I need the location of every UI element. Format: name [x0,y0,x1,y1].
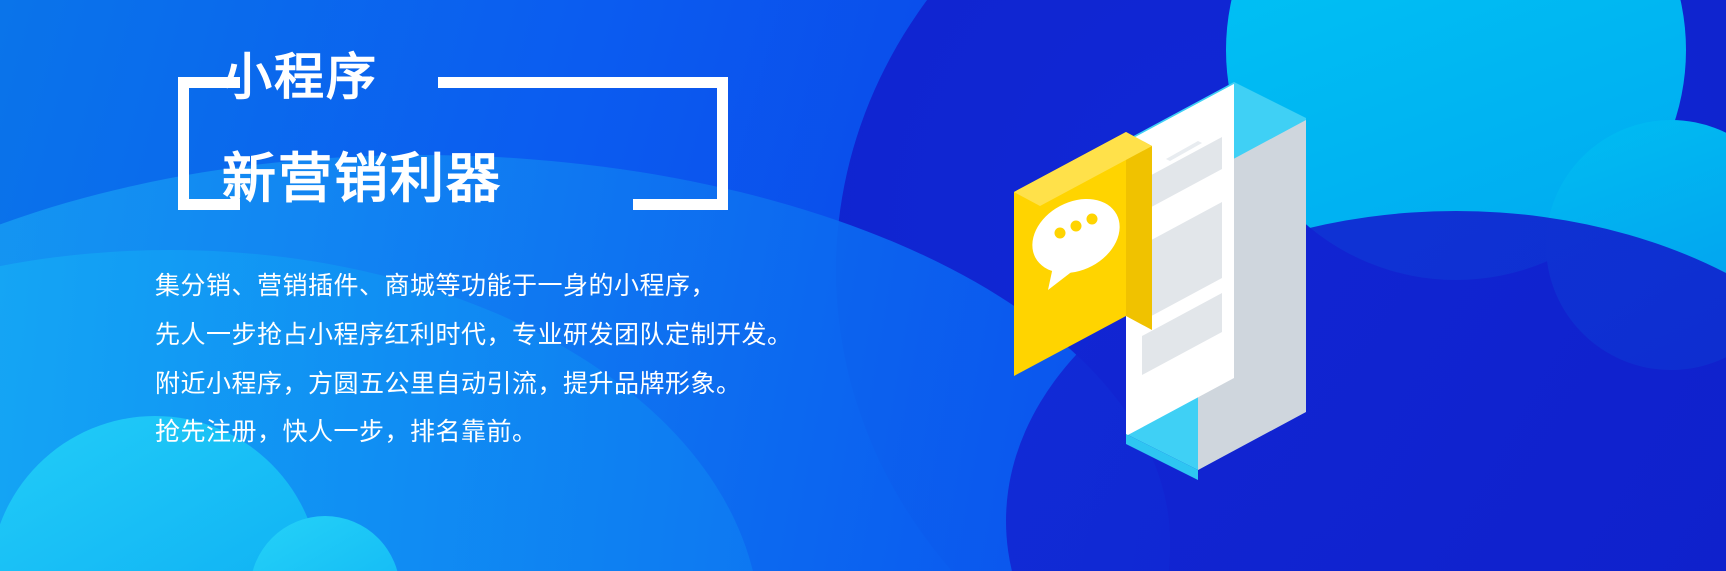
bracket-top-bar [438,77,728,88]
hero-illustration [976,40,1396,540]
banner-content: 小程序 新营销利器 集分销、营销插件、商城等功能于一身的小程序， 先人一步抢占小… [0,0,1000,571]
promo-banner: 小程序 新营销利器 集分销、营销插件、商城等功能于一身的小程序， 先人一步抢占小… [0,0,1726,571]
headline-secondary: 新营销利器 [222,152,502,206]
body-line-1: 集分销、营销插件、商城等功能于一身的小程序， [155,262,975,311]
bubble-dot-3 [1087,214,1098,225]
bracket-bottom-bar [633,199,728,210]
bracket-left-edge [178,77,189,210]
bubble-dot-1 [1055,228,1066,239]
headline-primary: 小程序 [222,52,378,102]
body-line-4: 抢先注册，快人一步，排名靠前。 [155,408,975,457]
bracket-right-edge [717,77,728,210]
body-line-2: 先人一步抢占小程序红利时代，专业研发团队定制开发。 [155,311,975,360]
body-line-3: 附近小程序，方圆五公里自动引流，提升品牌形象。 [155,360,975,409]
body-copy: 集分销、营销插件、商城等功能于一身的小程序， 先人一步抢占小程序红利时代，专业研… [155,262,975,457]
bubble-dot-2 [1071,221,1082,232]
